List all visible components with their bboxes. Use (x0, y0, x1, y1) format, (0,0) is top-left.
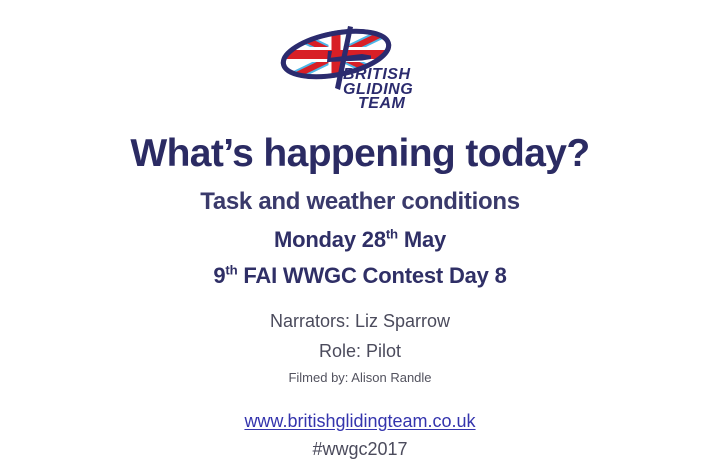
date-prefix: Monday 28 (274, 227, 386, 252)
slide-title: What’s happening today? (130, 134, 589, 175)
role-line: Role: Pilot (319, 341, 401, 362)
narrators-line: Narrators: Liz Sparrow (270, 311, 450, 332)
website-link[interactable]: www.britishglidingteam.co.uk (244, 411, 475, 432)
british-gliding-team-logo: BRITISH GLIDING TEAM (270, 18, 450, 110)
logo-svg: BRITISH GLIDING TEAM (270, 18, 450, 110)
presentation-slide: BRITISH GLIDING TEAM What’s happening to… (0, 0, 720, 470)
hashtag-line: #wwgc2017 (312, 439, 407, 460)
slide-date-line: Monday 28th May (274, 227, 446, 253)
filmed-by-line: Filmed by: Alison Randle (288, 370, 431, 385)
logo-wordmark: BRITISH GLIDING TEAM (343, 66, 413, 110)
date-ordinal: th (386, 227, 398, 242)
slide-event-line: 9th FAI WWGC Contest Day 8 (213, 263, 506, 289)
event-number: 9 (213, 263, 225, 288)
logo-word-team: TEAM (358, 95, 406, 110)
event-rest: FAI WWGC Contest Day 8 (243, 263, 506, 288)
date-suffix: May (404, 227, 446, 252)
slide-subtitle: Task and weather conditions (200, 188, 520, 216)
event-ordinal: th (225, 263, 237, 278)
